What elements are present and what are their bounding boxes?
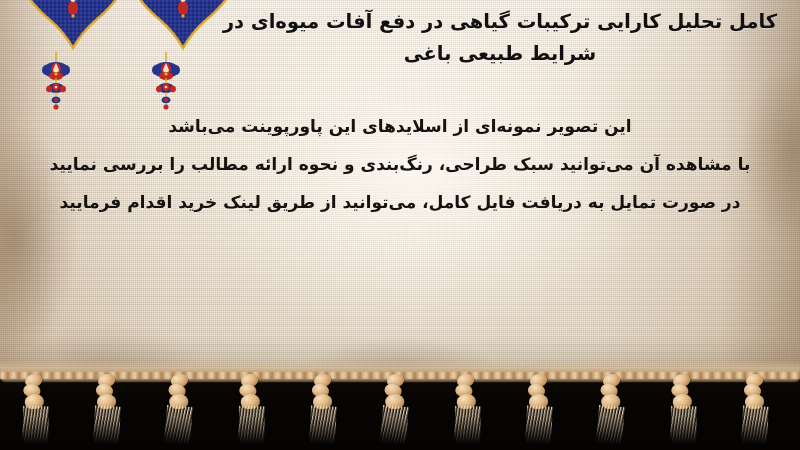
tassel-brush (670, 406, 697, 444)
body-line-2: با مشاهده آن می‌توانید سبک طراحی، رنگ‌بن… (0, 146, 800, 184)
body-line-1: این تصویر نمونه‌ای از اسلایدهای این پاور… (0, 108, 800, 146)
title-line-1: کامل تحلیل کارایی ترکیبات گیاهی در دفع آ… (220, 6, 780, 38)
persian-pendant-icon (146, 52, 186, 112)
persian-pendant-icon (36, 52, 76, 112)
tassel-brush (309, 405, 337, 444)
carpet-tassel (233, 371, 269, 444)
carpet-tassel (522, 372, 556, 444)
tassel-brush (596, 405, 625, 445)
tassel-brush (238, 406, 265, 444)
tassel-brush (22, 406, 49, 444)
tassel-brush (380, 405, 409, 445)
carpet-tassel (161, 371, 197, 444)
carpet-tassel (90, 372, 124, 444)
carpet-tassel (306, 372, 340, 444)
carpet-tassel (738, 372, 772, 444)
tassel-brush (93, 405, 121, 444)
body-line-3: در صورت تمایل به دریافت فایل کامل، می‌تو… (0, 184, 800, 222)
slide-body: این تصویر نمونه‌ای از اسلایدهای این پاور… (0, 108, 800, 222)
carpet-tassel (449, 371, 485, 444)
tassel-brush (164, 405, 193, 445)
slide-canvas: کامل تحلیل کارایی ترکیبات گیاهی در دفع آ… (0, 0, 800, 450)
tassel-brush (454, 406, 481, 444)
carpet-tassel (17, 371, 53, 444)
persian-medallion-left-pendant (36, 52, 76, 116)
title-line-2: شرایط طبیعی باغی (220, 38, 780, 70)
slide-title: کامل تحلیل کارایی ترکیبات گیاهی در دفع آ… (220, 6, 780, 70)
persian-medallion-right-pendant (146, 52, 186, 116)
carpet-tassel (665, 371, 701, 444)
carpet-tassel (377, 371, 413, 444)
tassel-brush (525, 405, 553, 444)
carpet-tassel (593, 371, 629, 444)
tassel-brush (741, 405, 769, 444)
